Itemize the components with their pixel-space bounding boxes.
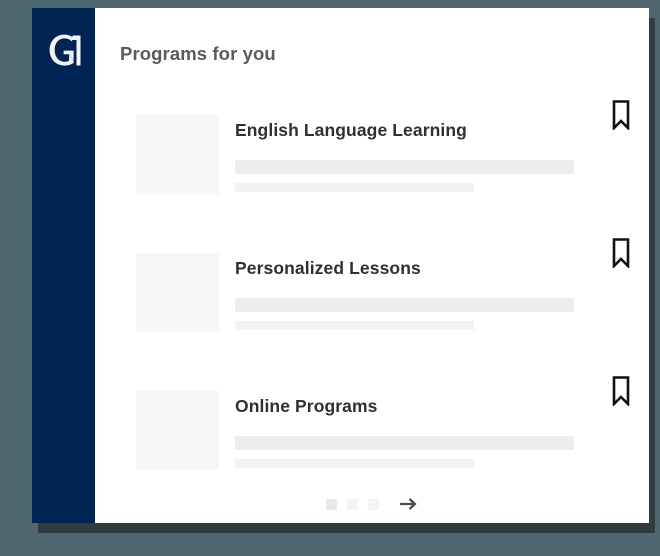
list-item[interactable]: English Language Learning — [95, 103, 649, 241]
list-item[interactable]: Personalized Lessons — [95, 241, 649, 379]
program-body: English Language Learning — [235, 103, 649, 192]
program-thumbnail — [136, 391, 219, 470]
screen: Programs for you English Language Learni… — [0, 0, 660, 556]
program-list: English Language Learning Personalized — [95, 103, 649, 517]
skeleton-line-secondary — [235, 183, 474, 192]
pager-dot-1[interactable] — [326, 499, 337, 510]
pager-dot-2[interactable] — [347, 499, 358, 510]
program-body: Online Programs — [235, 379, 649, 468]
app-window: Programs for you English Language Learni… — [32, 8, 649, 523]
georgetown-g-logo-icon[interactable] — [43, 29, 85, 71]
program-thumbnail — [136, 115, 219, 194]
skeleton-line-primary — [235, 298, 574, 312]
program-title: English Language Learning — [235, 120, 649, 141]
program-title: Personalized Lessons — [235, 258, 649, 279]
skeleton-line-secondary — [235, 459, 474, 468]
carousel-pager — [95, 494, 649, 514]
pager-dot-3[interactable] — [368, 499, 379, 510]
program-title: Online Programs — [235, 396, 649, 417]
main-content: Programs for you English Language Learni… — [95, 8, 649, 523]
skeleton-line-primary — [235, 436, 574, 450]
skeleton-line-secondary — [235, 321, 474, 330]
bookmark-icon[interactable] — [609, 238, 633, 268]
bookmark-icon[interactable] — [609, 376, 633, 406]
sidebar-rail — [32, 8, 95, 523]
page-title: Programs for you — [120, 43, 276, 65]
skeleton-line-primary — [235, 160, 574, 174]
arrow-right-icon[interactable] — [398, 494, 418, 514]
program-thumbnail — [136, 253, 219, 332]
program-body: Personalized Lessons — [235, 241, 649, 330]
bookmark-icon[interactable] — [609, 100, 633, 130]
